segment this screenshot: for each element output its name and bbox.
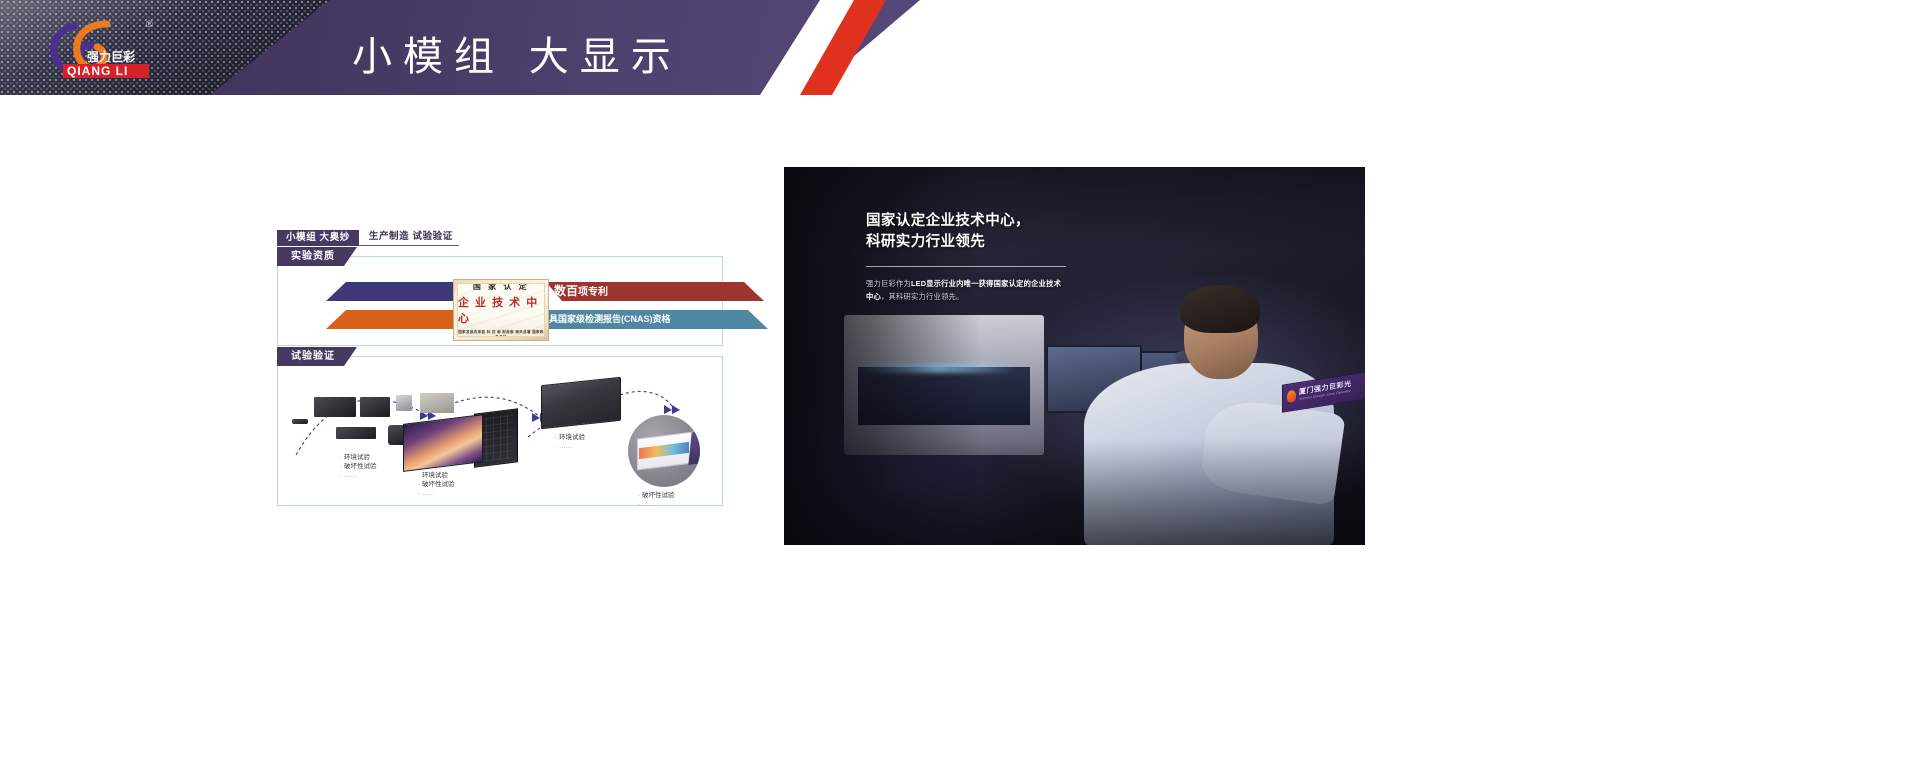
photo-title-line-2: 科研实力行业领先: [866, 232, 1116, 253]
plaque-line-2: 企 业 技 术 中 心: [458, 294, 544, 326]
body-highlight-led: LED: [911, 279, 926, 288]
qualification-section-label: 实验资质: [277, 247, 357, 266]
caption-line: 环境试验: [555, 433, 585, 442]
photo-text-block: 国家认定企业技术中心， 科研实力行业领先 强力巨彩作为LED显示行业内唯一获得国…: [866, 211, 1116, 303]
plaque-inner: 国 家 认 定 企 业 技 术 中 心 国家发展改革委 科 技 部 财政部 海关…: [457, 283, 545, 337]
registered-trademark-icon: ®: [146, 19, 153, 29]
caption-line: 环境试验: [340, 453, 376, 462]
qiangli-logo: 强力巨彩 QIANG LI ®: [45, 16, 165, 82]
caption-line: 破坏性试验: [638, 491, 674, 500]
page-title: 小模组 大显示: [352, 24, 682, 82]
stage-module-screen: [403, 414, 483, 472]
stage-package-caption: 破坏性试验 ……: [638, 491, 674, 509]
caption-line: 破坏性试验: [340, 462, 376, 471]
body-post: ，其科研实力行业领先。: [881, 292, 963, 301]
caption-line: ……: [418, 489, 454, 498]
svg-text:QIANG LI: QIANG LI: [67, 64, 128, 78]
stage-cabinet-unit: [541, 377, 621, 429]
photo-title: 国家认定企业技术中心， 科研实力行业领先: [866, 211, 1116, 253]
stage-components-caption: 环境试验 破坏性试验 ……: [340, 453, 376, 480]
left-content-panel: 小模组 大奥妙 生产制造 试验验证 实验资质 7大专业实验室 31种实验设备 数…: [277, 230, 723, 506]
tab-main-label[interactable]: 小模组 大奥妙: [277, 230, 359, 246]
page-header: 强力巨彩 QIANG LI ® 小模组 大显示: [0, 0, 1920, 95]
svg-text:强力巨彩: 强力巨彩: [87, 49, 135, 64]
caption-line: ……: [638, 500, 674, 509]
photo-title-divider: [866, 266, 1066, 267]
body-pre: 强力巨彩作为: [866, 279, 911, 288]
caption-line: ……: [340, 471, 376, 480]
banner-cnas: 具备开具国家级检测报告(CNAS)资格: [514, 310, 768, 329]
panel-tab-row: 小模组 大奥妙 生产制造 试验验证: [277, 230, 723, 246]
banner-patents: 数百项专利: [546, 282, 764, 301]
caption-line: ……: [555, 442, 585, 451]
verification-section: 试验验证: [277, 356, 723, 506]
caption-line: 破坏性试验: [418, 480, 454, 489]
qualification-section: 实验资质 7大专业实验室 31种实验设备 数百项专利 具备开具国家级检测报告(C…: [277, 256, 723, 346]
plaque-line-1: 国 家 认 定: [473, 283, 529, 292]
stage-module-caption: 环境试验 破坏性试验 ……: [418, 471, 454, 498]
photo-title-line-1: 国家认定企业技术中心，: [866, 211, 1116, 232]
photo-body-text: 强力巨彩作为LED显示行业内唯一获得国家认定的企业技术中心，其科研实力行业领先。: [866, 278, 1066, 303]
caption-line: 环境试验: [418, 471, 454, 480]
stage-package-photo: [628, 415, 700, 487]
plaque-line-3: 国家发展改革委 科 技 部 财政部 海关总署 国家税务总局: [458, 330, 544, 338]
tab-sub-label[interactable]: 生产制造 试验验证: [359, 231, 459, 246]
lab-photo-panel: 厦门强力巨彩光 Xiamen Qiangli Jucai Optoelec 国家…: [784, 167, 1365, 545]
verification-section-label: 试验验证: [277, 347, 357, 366]
national-certificate-plaque: 国 家 认 定 企 业 技 术 中 心 国家发展改革委 科 技 部 财政部 海关…: [453, 279, 549, 341]
verification-flow-diagram: 环境试验 破坏性试验 …… 环境试验 破坏性试验 …… 环境试验 ……: [278, 371, 722, 503]
banner-patents-number: 数百: [554, 284, 578, 298]
banner-patents-text: 项专利: [578, 287, 608, 298]
stage-cabinet-caption: 环境试验 ……: [555, 433, 585, 451]
qualification-banner-group: 7大专业实验室 31种实验设备 数百项专利 具备开具国家级检测报告(CNAS)资…: [278, 279, 722, 341]
